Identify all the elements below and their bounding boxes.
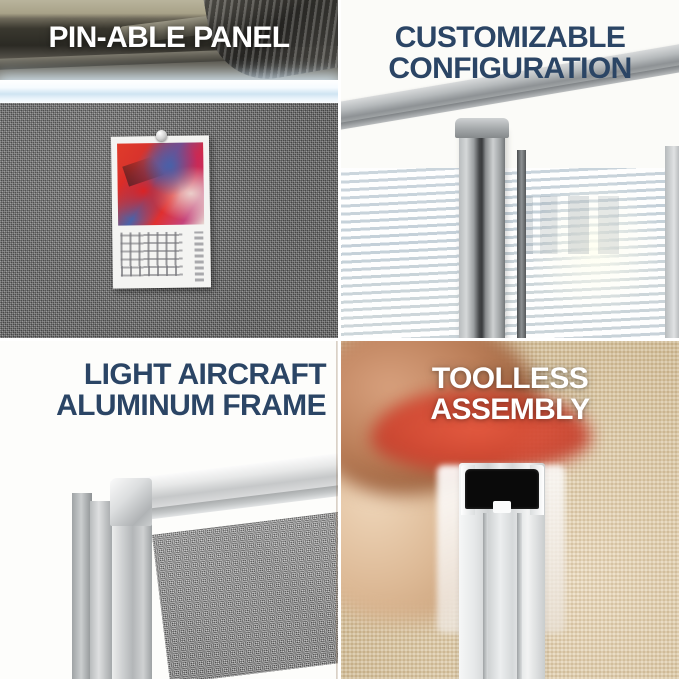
aluminum-corner-post — [459, 130, 505, 338]
aluminum-upright-post-rear — [72, 493, 92, 679]
caption-customizable-configuration: CUSTOMIZABLE CONFIGURATION — [349, 22, 671, 84]
feature-panel-aluminum-frame: LIGHT AIRCRAFT ALUMINUM FRAME — [0, 341, 338, 679]
calendar-side-text — [194, 231, 204, 281]
aluminum-upright-post-front — [112, 519, 152, 679]
gray-fabric-panel — [152, 511, 338, 679]
fluorescent-light-icon — [0, 80, 338, 104]
extrusion-notch — [493, 501, 511, 513]
product-feature-infographic: PIN-ABLE PANEL CUSTOMIZABLE CONFIGURATIO… — [0, 0, 679, 679]
frame-corner-joint — [110, 478, 152, 526]
calendar-grid — [120, 232, 183, 277]
post-end-cap — [455, 118, 509, 138]
panel-edge-shadow — [336, 341, 338, 679]
caption-toolless-assembly: TOOLLESS ASSEMBLY — [349, 363, 671, 425]
abstract-artwork — [117, 142, 204, 225]
feature-panel-toolless-assembly: TOOLLESS ASSEMBLY — [341, 341, 679, 679]
glass-mullion — [517, 150, 526, 338]
glass-panel-edge-post — [665, 146, 679, 338]
caption-light-aircraft-aluminum-frame: LIGHT AIRCRAFT ALUMINUM FRAME — [10, 359, 326, 421]
extrusion-web-left — [483, 513, 488, 679]
window-outside-view — [517, 196, 633, 254]
pinned-wall-calendar — [111, 135, 211, 288]
extrusion-web-right — [517, 513, 522, 679]
feature-panel-pin-able: PIN-ABLE PANEL — [0, 0, 338, 338]
push-pin-icon — [156, 130, 167, 141]
caption-pin-able-panel: PIN-ABLE PANEL — [0, 22, 338, 53]
aluminum-upright-post-mid — [90, 501, 112, 679]
feature-panel-customizable: CUSTOMIZABLE CONFIGURATION — [341, 0, 679, 338]
